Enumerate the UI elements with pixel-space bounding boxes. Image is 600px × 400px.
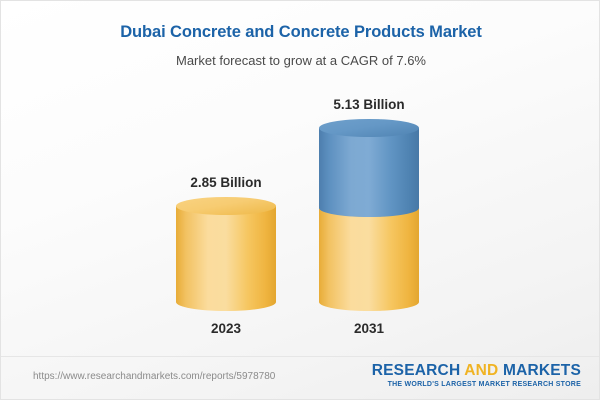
category-label-2023: 2023 — [156, 321, 296, 336]
chart-subtitle: Market forecast to grow at a CAGR of 7.6… — [1, 53, 600, 68]
bar-value-label-2031: 5.13 Billion — [299, 97, 439, 112]
market-forecast-infographic: Dubai Concrete and Concrete Products Mar… — [0, 0, 600, 400]
bar-value-label-2023: 2.85 Billion — [156, 175, 296, 190]
brand-tagline: THE WORLD'S LARGEST MARKET RESEARCH STOR… — [372, 381, 581, 388]
bar-cylinder-2023-graphic — [176, 197, 276, 311]
brand-wordmark: RESEARCH AND MARKETS — [372, 363, 581, 379]
bar-cylinder-2023[interactable] — [176, 197, 276, 311]
bar-cylinder-2031[interactable] — [319, 119, 419, 311]
footer-divider — [1, 356, 600, 357]
brand-word-research: RESEARCH — [372, 362, 465, 379]
brand-word-markets: MARKETS — [498, 362, 581, 379]
brand-word-and: AND — [464, 362, 498, 379]
bar-cylinder-2031-graphic — [319, 119, 419, 311]
category-label-2031: 2031 — [299, 321, 439, 336]
chart-plot-area: 2.85 Billion — [1, 81, 600, 351]
page-title: Dubai Concrete and Concrete Products Mar… — [1, 23, 600, 42]
report-url-link[interactable]: https://www.researchandmarkets.com/repor… — [33, 371, 275, 382]
research-and-markets-logo[interactable]: RESEARCH AND MARKETS THE WORLD'S LARGEST… — [372, 363, 581, 388]
